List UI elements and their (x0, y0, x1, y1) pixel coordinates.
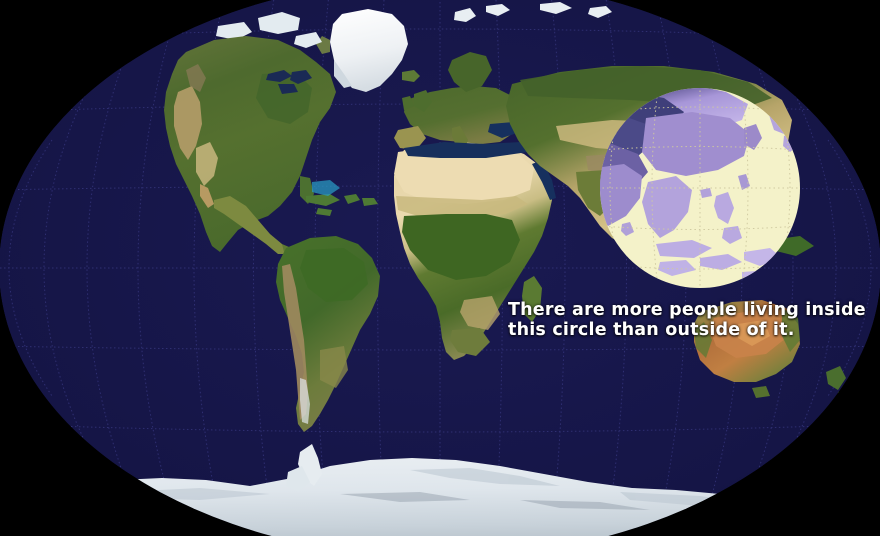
world-map-canvas (0, 0, 880, 536)
world-map-infographic: There are more people living inside this… (0, 0, 880, 536)
